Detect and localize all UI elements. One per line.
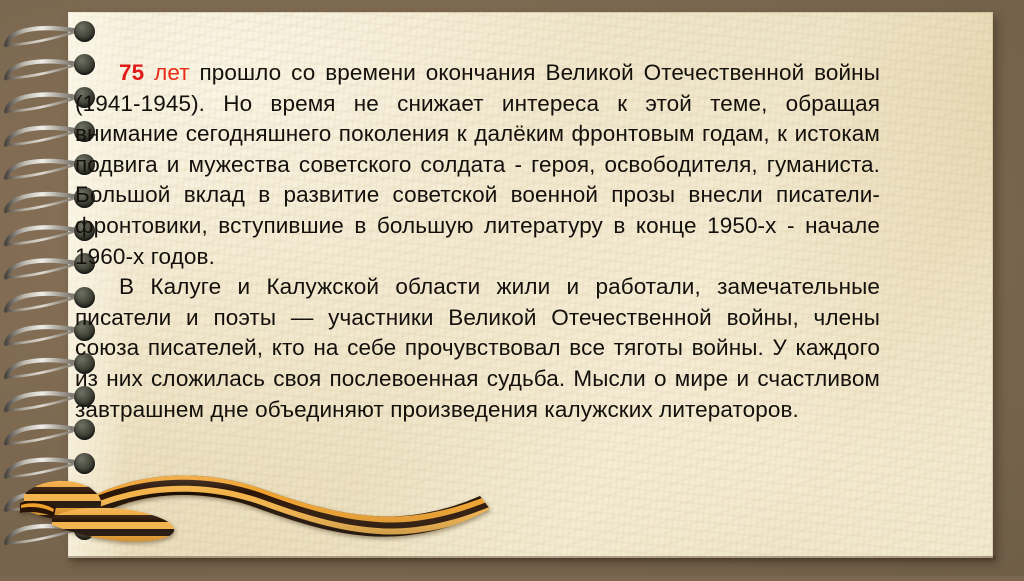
paragraph-2: В Калуге и Калужской области жили и рабо…: [75, 272, 880, 425]
paragraph-1: 75 лет прошло со времени окончания Велик…: [75, 58, 880, 272]
slide-text-body: 75 лет прошло со времени окончания Велик…: [75, 58, 880, 425]
highlight-word: лет: [154, 60, 190, 85]
paragraph-1-rest: прошло со времени окончания Великой Отеч…: [75, 60, 880, 269]
sheet-drop-shadow: [68, 556, 996, 563]
highlight-number: 75: [119, 60, 144, 85]
